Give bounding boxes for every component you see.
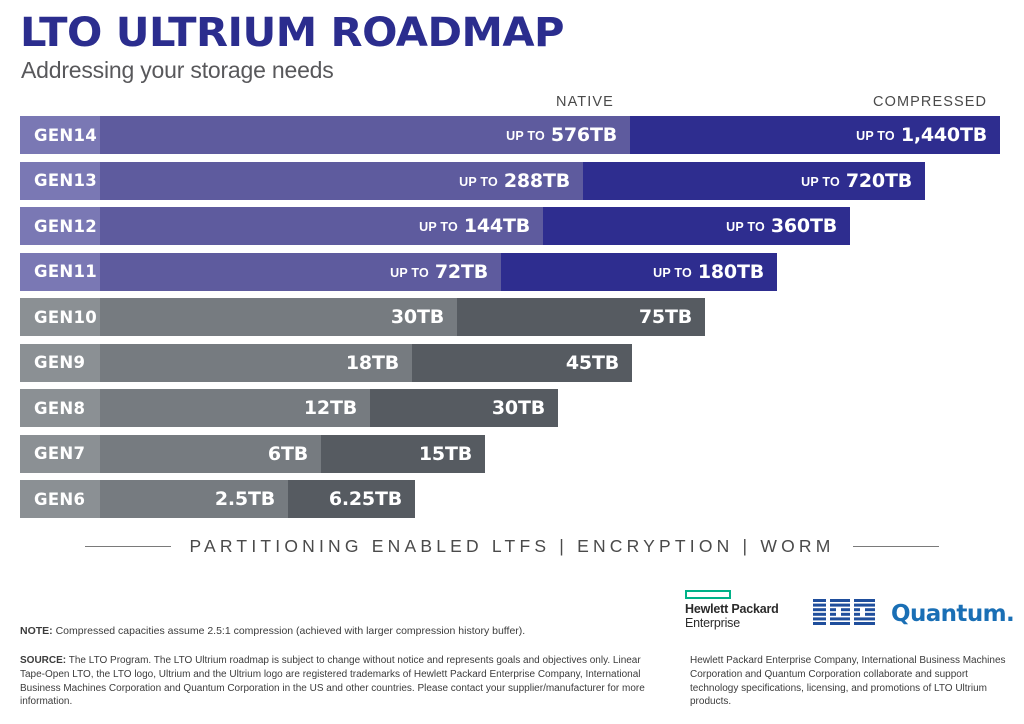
- chart-row-gen10: GEN1030TB75TB: [20, 298, 705, 336]
- native-bar-gen7: 6TB: [100, 435, 321, 473]
- compressed-bar-gen10: 75TB: [457, 298, 705, 336]
- native-bar-gen8: 12TB: [100, 389, 370, 427]
- generation-label-gen11: GEN11: [20, 253, 100, 291]
- native-bar-gen13: UP TO288TB: [100, 162, 583, 200]
- generation-label-gen10: GEN10: [20, 298, 100, 336]
- hpe-logo-line1: Hewlett Packard: [685, 602, 797, 616]
- chart-row-gen12: GEN12UP TO144TBUP TO360TB: [20, 207, 850, 245]
- native-capacity-value: 6TB: [268, 443, 308, 465]
- generation-label-gen13: GEN13: [20, 162, 100, 200]
- capacity-bar-chart: GEN14UP TO576TBUP TO1,440TBGEN13UP TO288…: [0, 0, 1024, 530]
- note-label: NOTE:: [20, 625, 53, 637]
- up-to-prefix: UP TO: [506, 129, 545, 143]
- native-capacity-value: 576TB: [551, 124, 617, 146]
- generation-label-gen9: GEN9: [20, 344, 100, 382]
- native-bar-gen9: 18TB: [100, 344, 412, 382]
- generation-label-gen8: GEN8: [20, 389, 100, 427]
- native-capacity-value: 288TB: [504, 170, 570, 192]
- ibm-logo: [813, 599, 875, 625]
- up-to-prefix: UP TO: [459, 175, 498, 189]
- native-capacity-value: 18TB: [346, 352, 399, 374]
- compressed-capacity-value: 30TB: [492, 397, 545, 419]
- generation-label-gen6: GEN6: [20, 480, 100, 518]
- source-label: SOURCE:: [20, 655, 66, 666]
- native-bar-gen10: 30TB: [100, 298, 457, 336]
- source-text: The LTO Program. The LTO Ultrium roadmap…: [20, 655, 645, 707]
- feature-rule-left: [85, 546, 171, 547]
- hpe-mark-icon: [685, 590, 731, 599]
- hpe-logo-line2: Enterprise: [685, 616, 797, 630]
- native-bar-gen11: UP TO72TB: [100, 253, 501, 291]
- note-text: Compressed capacities assume 2.5:1 compr…: [56, 625, 526, 637]
- native-capacity-value: 30TB: [391, 306, 444, 328]
- native-bar-gen6: 2.5TB: [100, 480, 288, 518]
- quantum-logo-dot: .: [1006, 601, 1014, 627]
- native-capacity-value: 72TB: [435, 261, 488, 283]
- compressed-capacity-value: 45TB: [566, 352, 619, 374]
- compressed-capacity-value: 360TB: [771, 215, 837, 237]
- generation-label-gen12: GEN12: [20, 207, 100, 245]
- generation-label-gen14: GEN14: [20, 116, 100, 154]
- source-block: SOURCE: The LTO Program. The LTO Ultrium…: [20, 654, 650, 709]
- hpe-logo: Hewlett Packard Enterprise: [685, 590, 797, 630]
- compressed-capacity-value: 6.25TB: [329, 488, 402, 510]
- chart-row-gen8: GEN812TB30TB: [20, 389, 558, 427]
- compressed-bar-gen7: 15TB: [321, 435, 485, 473]
- native-capacity-value: 12TB: [304, 397, 357, 419]
- feature-rule-right: [853, 546, 939, 547]
- compressed-bar-gen9: 45TB: [412, 344, 632, 382]
- compressed-capacity-value: 720TB: [846, 170, 912, 192]
- hpe-logo-text: Hewlett Packard Enterprise: [685, 602, 797, 630]
- up-to-prefix: UP TO: [419, 220, 458, 234]
- quantum-logo: Quantum.: [891, 601, 1014, 627]
- compressed-capacity-value: 180TB: [698, 261, 764, 283]
- compressed-bar-gen14: UP TO1,440TB: [630, 116, 1000, 154]
- up-to-prefix: UP TO: [653, 266, 692, 280]
- up-to-prefix: UP TO: [856, 129, 895, 143]
- chart-row-gen11: GEN11UP TO72TBUP TO180TB: [20, 253, 777, 291]
- chart-row-gen7: GEN76TB15TB: [20, 435, 485, 473]
- features-strip: PARTITIONING ENABLED LTFS | ENCRYPTION |…: [20, 531, 1004, 561]
- partner-collaboration-note: Hewlett Packard Enterprise Company, Inte…: [690, 654, 1010, 709]
- quantum-logo-text: Quantum: [891, 601, 1006, 627]
- generation-label-gen7: GEN7: [20, 435, 100, 473]
- compressed-capacity-value: 75TB: [639, 306, 692, 328]
- compressed-bar-gen6: 6.25TB: [288, 480, 415, 518]
- up-to-prefix: UP TO: [726, 220, 765, 234]
- chart-row-gen6: GEN62.5TB6.25TB: [20, 480, 415, 518]
- native-bar-gen12: UP TO144TB: [100, 207, 543, 245]
- native-capacity-value: 2.5TB: [215, 488, 275, 510]
- note-line: NOTE: Compressed capacities assume 2.5:1…: [20, 624, 525, 638]
- up-to-prefix: UP TO: [801, 175, 840, 189]
- chart-row-gen9: GEN918TB45TB: [20, 344, 632, 382]
- roadmap-infographic: LTO ULTRIUM ROADMAP Addressing your stor…: [0, 0, 1024, 724]
- compressed-bar-gen13: UP TO720TB: [583, 162, 925, 200]
- compressed-bar-gen11: UP TO180TB: [501, 253, 777, 291]
- up-to-prefix: UP TO: [390, 266, 429, 280]
- compressed-bar-gen12: UP TO360TB: [543, 207, 850, 245]
- compressed-bar-gen8: 30TB: [370, 389, 558, 427]
- native-bar-gen14: UP TO576TB: [100, 116, 630, 154]
- chart-row-gen14: GEN14UP TO576TBUP TO1,440TB: [20, 116, 1000, 154]
- chart-row-gen13: GEN13UP TO288TBUP TO720TB: [20, 162, 925, 200]
- features-text: PARTITIONING ENABLED LTFS | ENCRYPTION |…: [189, 536, 834, 557]
- ibm-logo-icon: [813, 599, 875, 625]
- compressed-capacity-value: 1,440TB: [901, 124, 987, 146]
- compressed-capacity-value: 15TB: [419, 443, 472, 465]
- native-capacity-value: 144TB: [464, 215, 530, 237]
